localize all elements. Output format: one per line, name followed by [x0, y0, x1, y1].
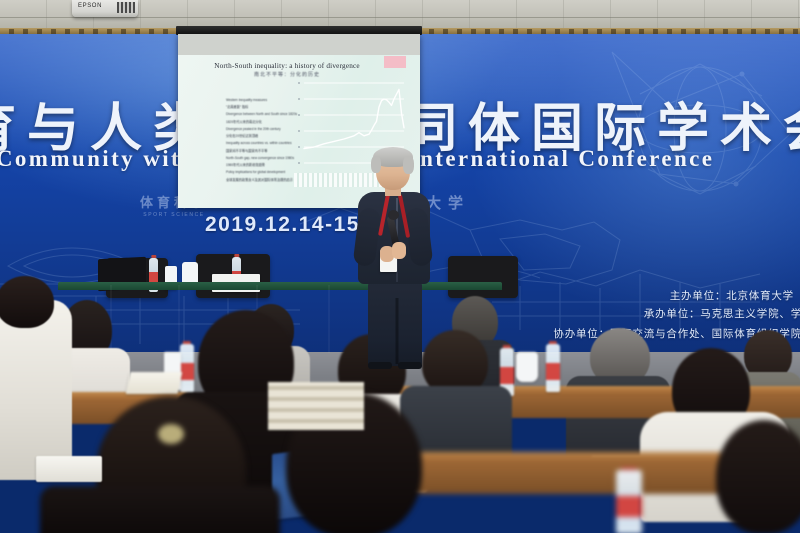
- bottle-label: [616, 496, 642, 518]
- slide-subtitle: 南北不平等：分化的历史: [192, 71, 382, 78]
- bottle-label: [500, 367, 514, 383]
- conference-photo-scene: EPSON: [0, 0, 800, 533]
- attendee-head: [716, 420, 800, 533]
- speaker-hair-side-left: [371, 156, 381, 173]
- bottle-cap: [151, 255, 156, 258]
- bottle-cap: [549, 341, 557, 344]
- bottle-cap: [183, 341, 191, 344]
- teapot: [516, 352, 538, 382]
- bottle-label: [546, 363, 560, 379]
- attendee-body: [40, 486, 280, 533]
- notebook: [126, 372, 183, 394]
- hair-tie-accessory: [158, 424, 184, 444]
- drape-fold: [328, 285, 330, 353]
- speaker-hair-side-right: [403, 156, 414, 174]
- bottle-cap: [503, 345, 511, 348]
- ceiling-seam: [0, 17, 800, 18]
- banner-organizer-line-2: 承办单位：马克思主义学院、学: [644, 306, 800, 321]
- water-bottle: [616, 470, 642, 533]
- projector-brand-label: EPSON: [78, 3, 102, 9]
- watermark-left-english: SPORT SCIENCE: [140, 212, 208, 218]
- speaker-shoe-right: [398, 362, 422, 369]
- drape-fold: [178, 285, 180, 353]
- projector: EPSON: [72, 0, 138, 17]
- speaker-presenter: [352, 150, 442, 365]
- water-bottle: [180, 344, 194, 392]
- slide-title: North-South inequality: a history of div…: [192, 62, 382, 70]
- attendee-head: [0, 276, 54, 328]
- projector-vent-icon: [117, 2, 135, 13]
- bottle-cap: [621, 467, 637, 470]
- slide-corner-marker: [384, 56, 406, 68]
- banner-date: 2019.12.14-15: [205, 213, 360, 237]
- speaker-shoe-left: [368, 362, 392, 369]
- water-bottle: [546, 344, 560, 392]
- speaker-leg-gap: [396, 298, 399, 364]
- banner-organizer-line-1: 主办单位：北京体育大学: [670, 288, 794, 303]
- screen-blank-margin: [178, 34, 420, 55]
- attendee-nameplate: [36, 456, 102, 482]
- attendee-white-coat: [0, 300, 72, 480]
- speaker-hand-right: [392, 242, 406, 259]
- attendee-plaid-jacket: [268, 382, 364, 430]
- bottle-cap: [234, 254, 239, 257]
- microphone-head-icon: [388, 210, 399, 220]
